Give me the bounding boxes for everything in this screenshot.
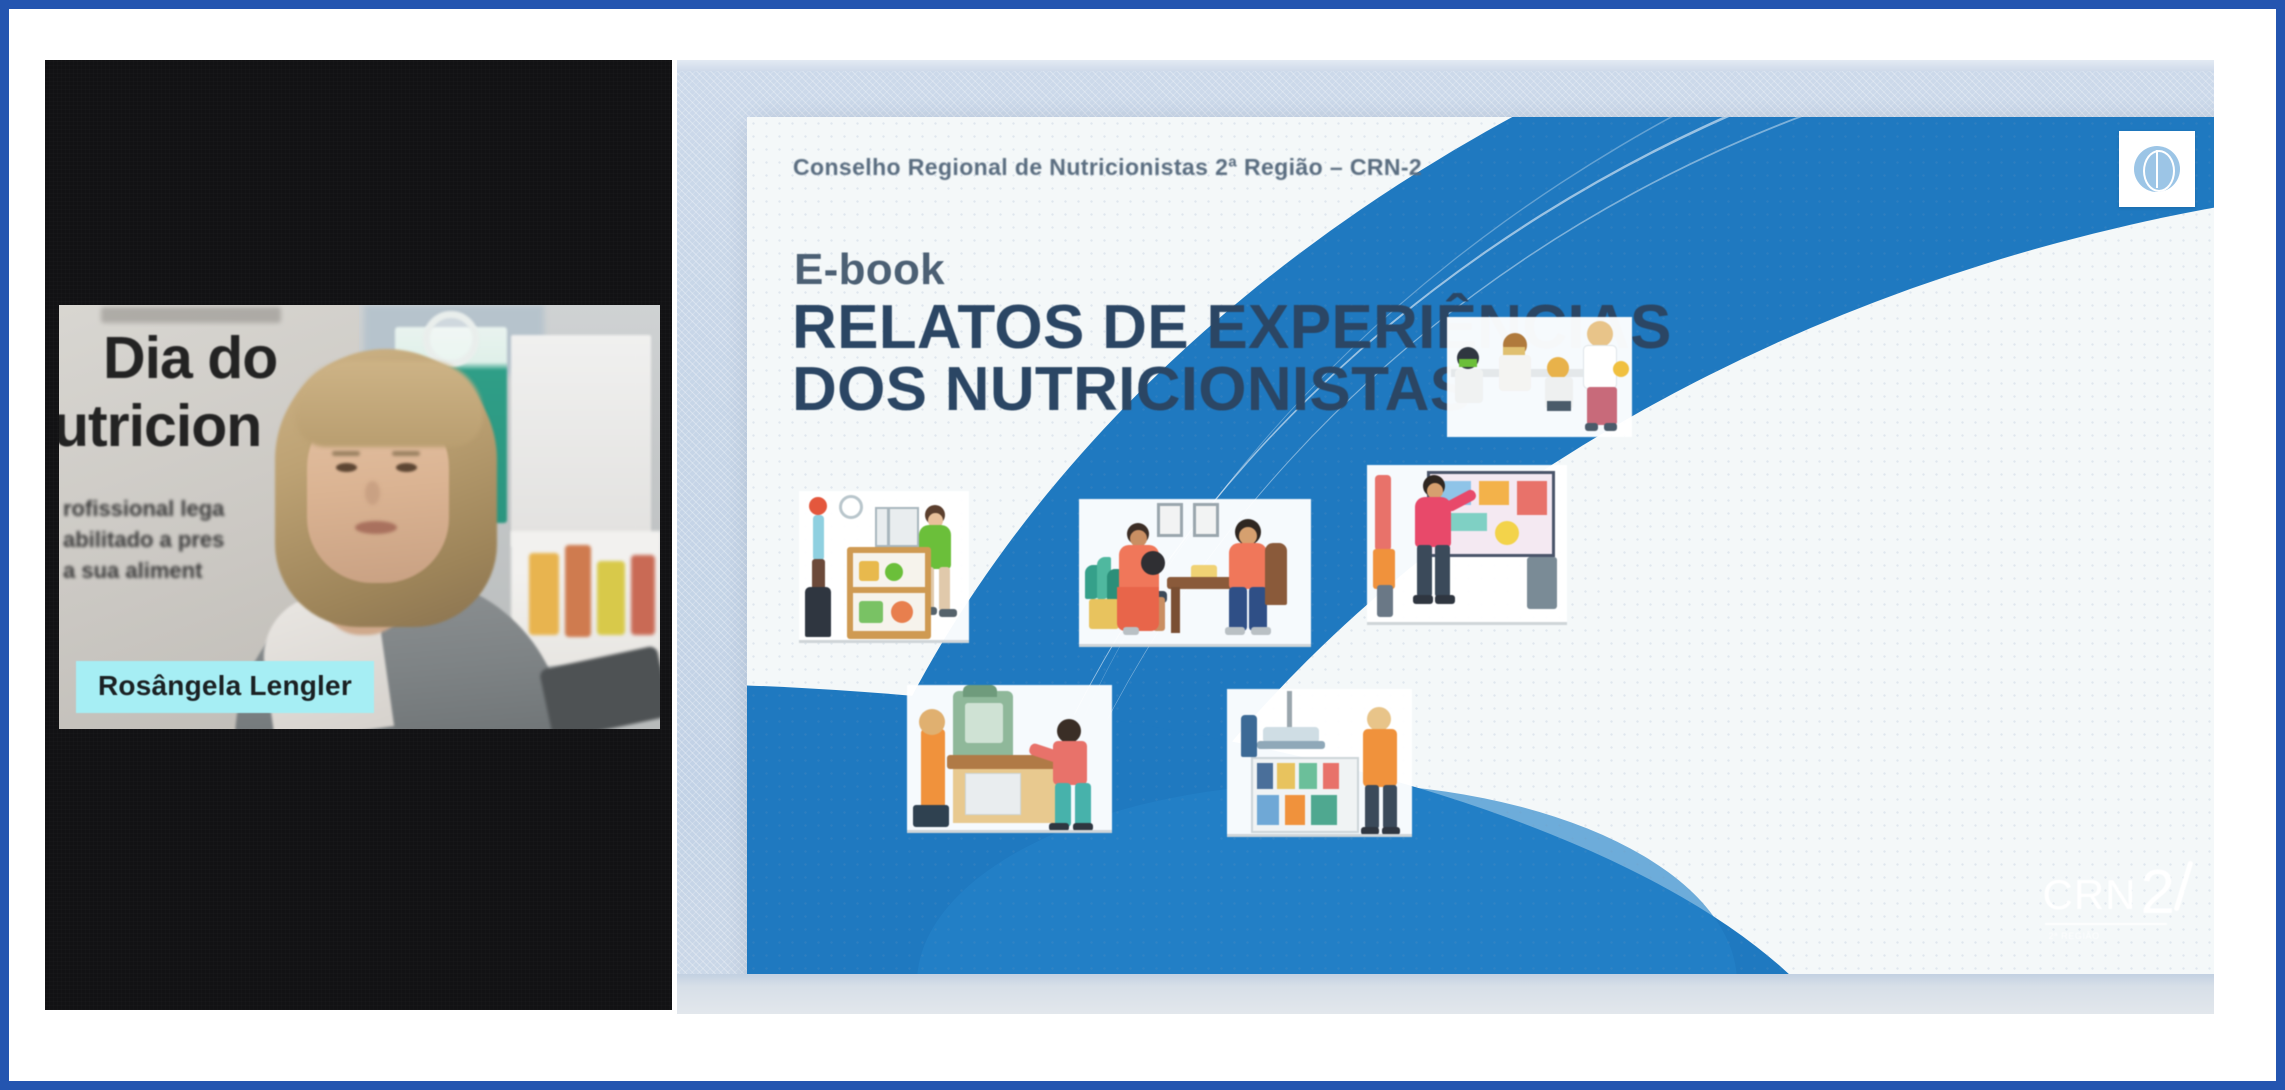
slide-organisation-line: Conselho Regional de Nutricionistas 2ª R…: [793, 154, 1422, 181]
participant-name-badge: Rosângela Lengler: [76, 661, 374, 713]
poster-top-line: [101, 307, 281, 323]
shelf-jar: [631, 555, 655, 635]
screen-top-edge: [677, 60, 2214, 71]
screen-bottom-edge: [677, 974, 2214, 1014]
poster-heading-line-1: Dia do: [103, 329, 277, 388]
crn-logo-rule: [2045, 923, 2167, 925]
webcam-feed: Dia do utricion rofissional lega abilita…: [59, 305, 660, 729]
crn-logo-subtitle: 2ª REGIÃO: [2049, 931, 2100, 941]
meeting-canvas: Dia do utricion rofissional lega abilita…: [9, 9, 2276, 1081]
shared-screen-region[interactable]: Conselho Regional de Nutricionistas 2ª R…: [677, 60, 2214, 1014]
speaker-nose: [365, 481, 380, 505]
market-shelf-illustration: [1227, 689, 1412, 837]
crn-logo-word: CRN: [2043, 871, 2137, 919]
shelf-jar: [565, 545, 591, 637]
presentation-slide[interactable]: Conselho Regional de Nutricionistas 2ª R…: [747, 117, 2214, 983]
globe-emblem-icon: [2119, 131, 2195, 207]
globe-glyph: [2134, 146, 2180, 192]
speaker-video-tile[interactable]: Dia do utricion rofissional lega abilita…: [45, 60, 672, 1010]
office-desk-illustration: [907, 685, 1112, 833]
crn-logo: CRN 2 2ª REGIÃO: [2043, 868, 2175, 919]
speaker-eyebrow: [392, 451, 420, 456]
speaker-fringe: [295, 361, 483, 447]
presentation-board-illustration: [1367, 465, 1567, 625]
slide-title-line-2: DOS NUTRICIONISTAS: [792, 357, 1471, 423]
shelf-jar: [529, 553, 559, 635]
kitchen-shelf-illustration: [799, 491, 969, 643]
shelf-jar: [597, 561, 625, 635]
speaker-mouth: [355, 521, 397, 534]
slide-ebook-label: E-book: [794, 245, 945, 295]
speaker-eye: [336, 463, 357, 472]
school-teacher-kids-illustration: [1447, 317, 1632, 437]
poster-heading-line-2: utricion: [59, 397, 261, 456]
consultation-table-illustration: [1079, 499, 1311, 647]
speaker-eyebrow: [332, 451, 360, 456]
crn-logo-number: 2: [2141, 868, 2175, 919]
screenshot-frame: Dia do utricion rofissional lega abilita…: [0, 0, 2285, 1090]
speaker-eye: [396, 463, 417, 472]
white-poster: [511, 335, 651, 547]
